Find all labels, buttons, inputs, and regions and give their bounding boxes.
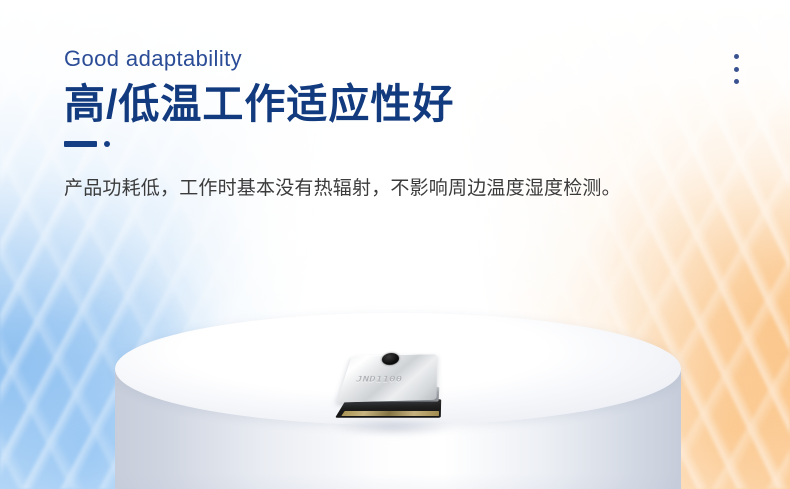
product-chip-jnd1100: JND1100 <box>337 341 445 429</box>
body-description: 产品功耗低，工作时基本没有热辐射，不影响周边温度湿度检测。 <box>64 174 624 205</box>
kebab-menu-icon[interactable] <box>726 52 746 86</box>
chip-model-label: JND1100 <box>355 375 403 384</box>
page-title: 高/低温工作适应性好 <box>64 82 674 128</box>
copy-block: Good adaptability 高/低温工作适应性好 产品功耗低，工作时基本… <box>64 46 674 224</box>
accent-dot <box>104 141 110 147</box>
title-underline-accent <box>64 141 674 147</box>
podium-base-shadow <box>115 473 681 489</box>
kebab-dot-3 <box>734 79 739 84</box>
kebab-dot-1 <box>734 54 739 59</box>
eyebrow-text: Good adaptability <box>64 46 674 72</box>
kebab-dot-2 <box>734 67 739 72</box>
product-feature-banner: JND1100 Good adaptability 高/低温工作适应性好 产品功… <box>0 0 790 489</box>
chip-gold-pads <box>341 411 439 416</box>
accent-bar <box>64 141 97 147</box>
